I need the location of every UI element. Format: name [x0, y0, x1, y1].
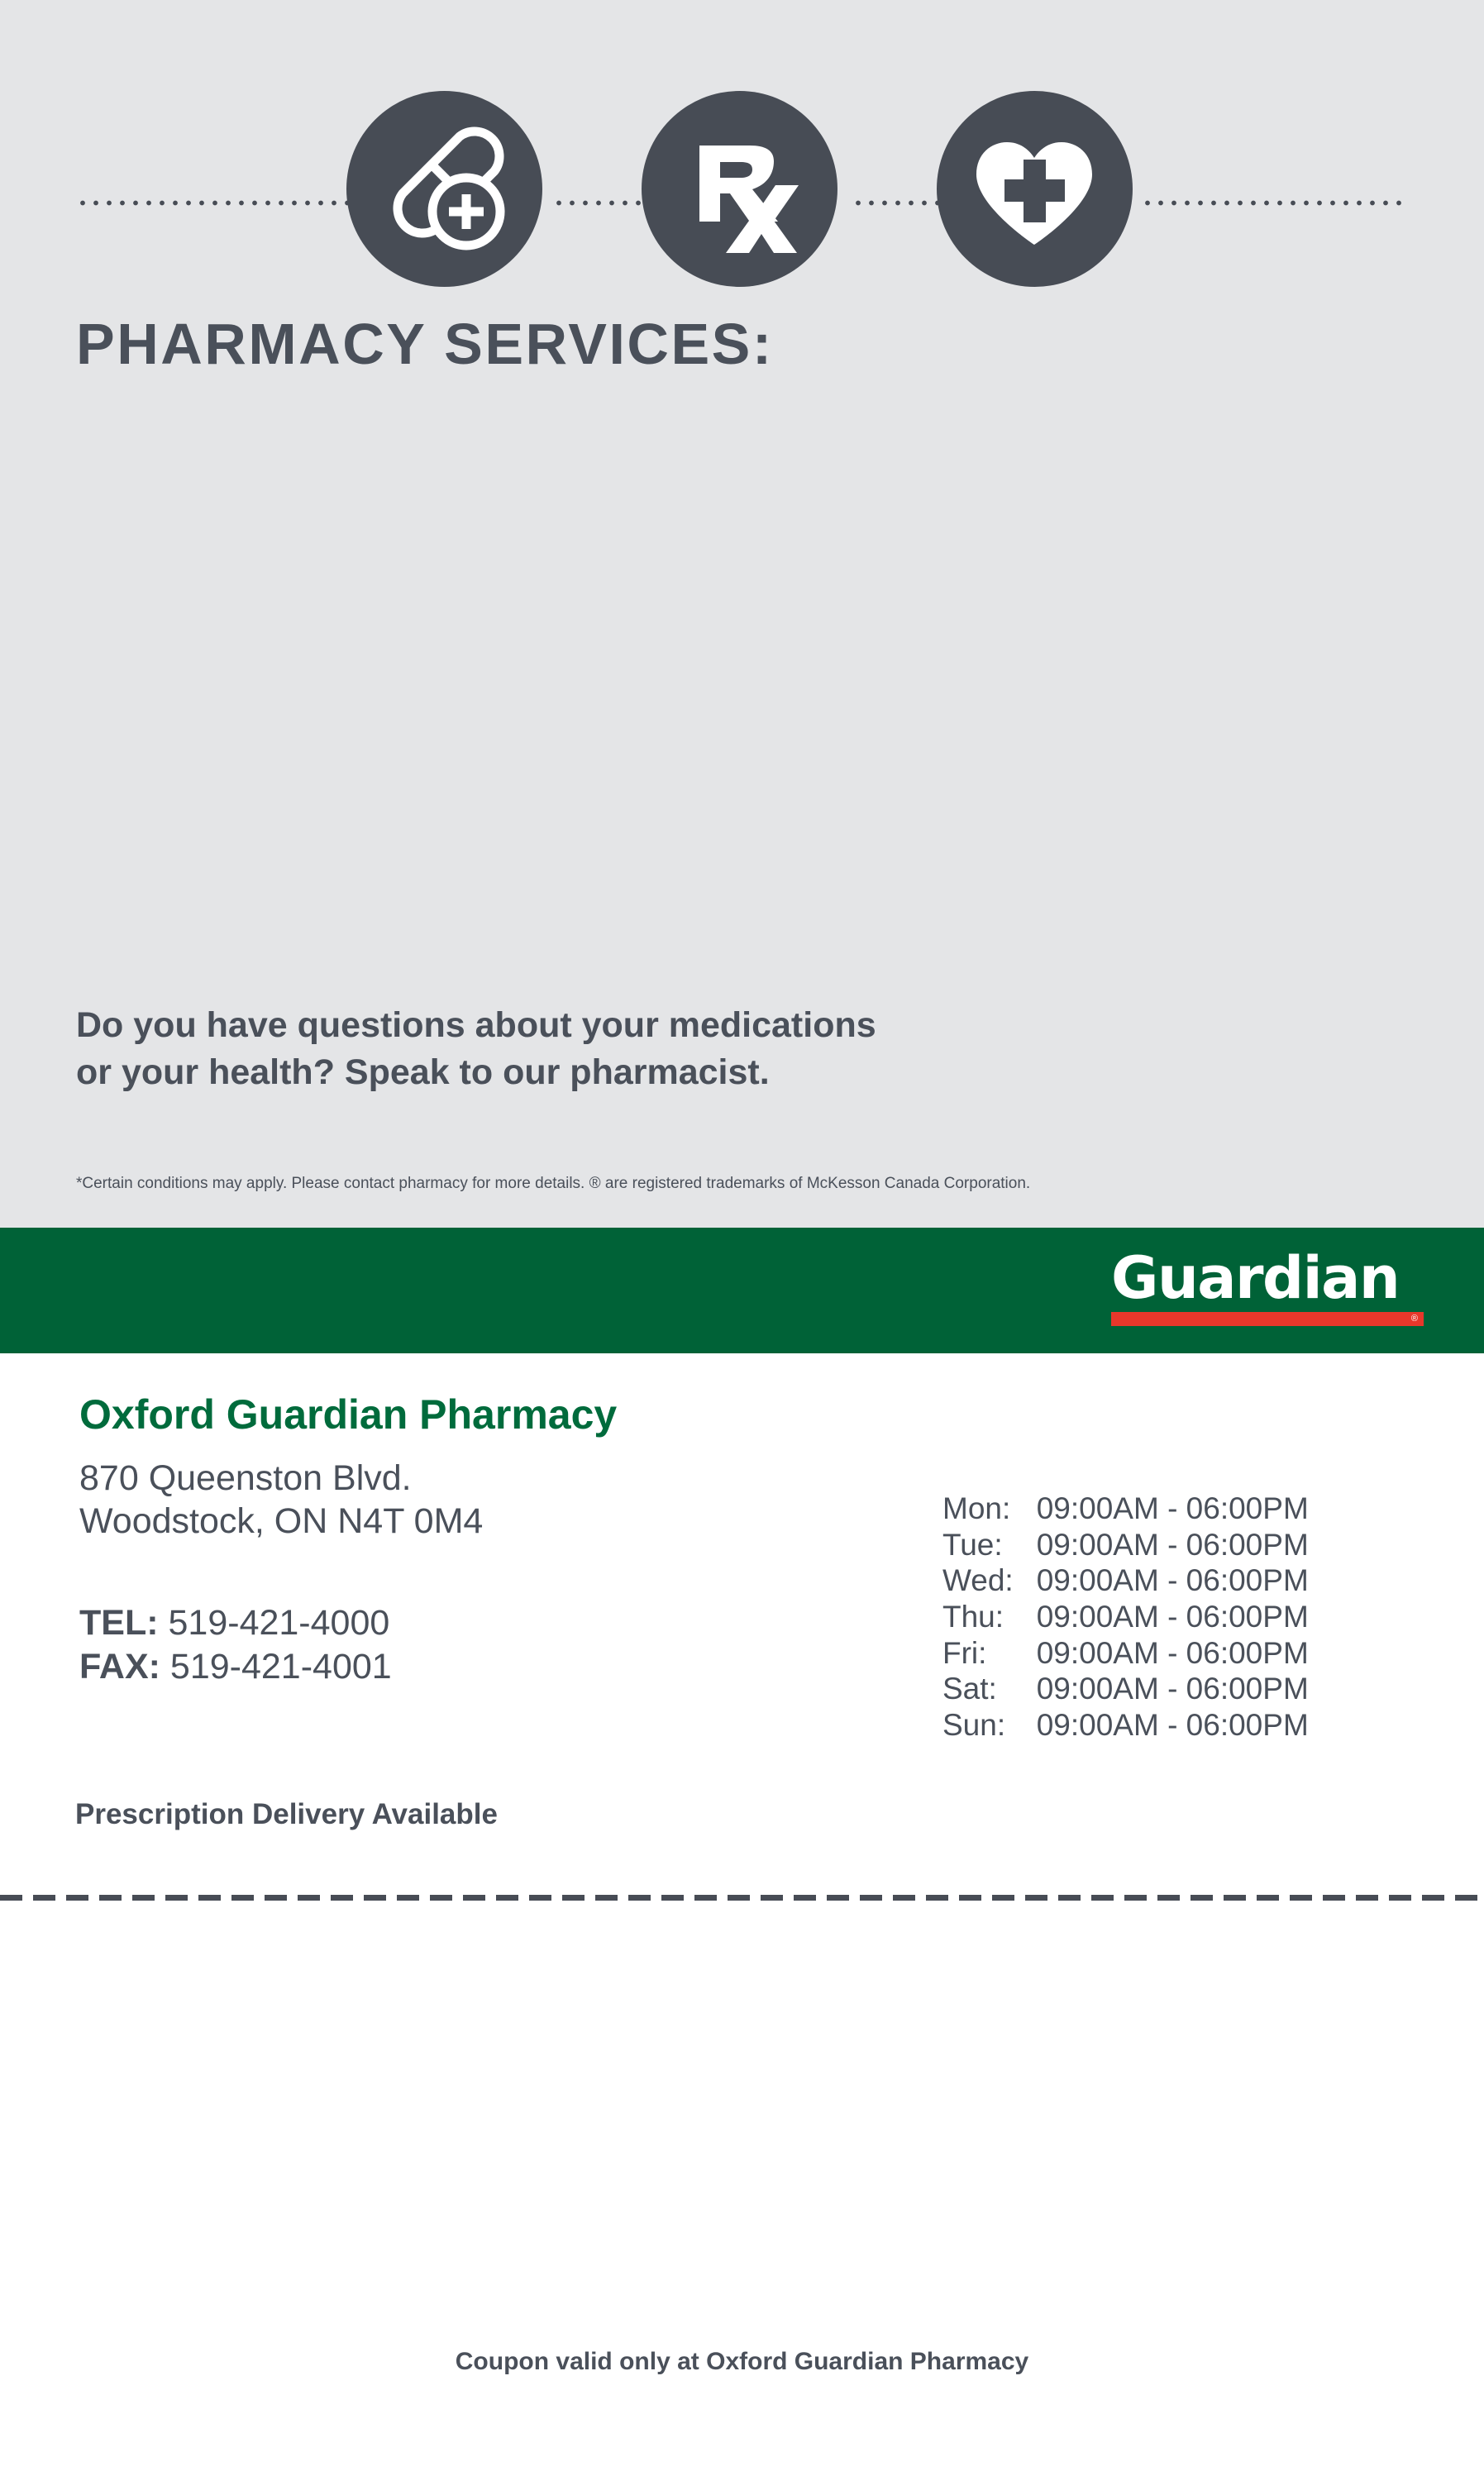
telephone-label: TEL: [79, 1603, 159, 1643]
dotted-rule-between-1-2 [552, 200, 643, 206]
coupon-footer-text: Coupon valid only at Oxford Guardian Pha… [0, 2348, 1484, 2376]
fax-value[interactable]: 519-421-4001 [170, 1647, 392, 1686]
fax-row: FAX: 519-421-4001 [79, 1645, 392, 1689]
store-contact: TEL: 519-421-4000 FAX: 519-421-4001 [79, 1601, 392, 1690]
store-hours-table: Mon: 09:00AM - 06:00PM Tue: 09:00AM - 06… [942, 1491, 1309, 1744]
hours-row: Tue: 09:00AM - 06:00PM [942, 1527, 1309, 1563]
store-hours-body: Mon: 09:00AM - 06:00PM Tue: 09:00AM - 06… [942, 1491, 1309, 1744]
rx-icon [642, 91, 837, 287]
question-line-2: or your health? Speak to our pharmacist. [76, 1049, 876, 1096]
hours-row: Sat: 09:00AM - 06:00PM [942, 1671, 1309, 1707]
address-line-1: 870 Queenston Blvd. [79, 1457, 483, 1500]
icon-strip [0, 45, 1484, 269]
hours-day: Wed: [942, 1562, 1037, 1599]
hours-day: Tue: [942, 1527, 1037, 1563]
pill-plus-icon [346, 91, 542, 287]
telephone-value[interactable]: 519-421-4000 [169, 1603, 390, 1643]
dotted-rule-between-2-3 [852, 200, 942, 206]
hours-time: 09:00AM - 06:00PM [1037, 1635, 1309, 1672]
question-block: Do you have questions about your medicat… [76, 1002, 876, 1096]
hours-row: Sun: 09:00AM - 06:00PM [942, 1707, 1309, 1744]
hours-row: Thu: 09:00AM - 06:00PM [942, 1599, 1309, 1635]
store-name: Oxford Guardian Pharmacy [79, 1391, 617, 1438]
heart-plus-icon [937, 91, 1133, 287]
hours-time: 09:00AM - 06:00PM [1037, 1707, 1309, 1744]
store-address: 870 Queenston Blvd. Woodstock, ON N4T 0M… [79, 1457, 483, 1543]
disclaimer-text: *Certain conditions may apply. Please co… [76, 1175, 1030, 1193]
fax-label: FAX: [79, 1647, 160, 1686]
guardian-logo: Guardian ® [1111, 1249, 1424, 1326]
dotted-rule-left [76, 200, 357, 206]
guardian-wordmark: Guardian [1111, 1249, 1424, 1307]
delivery-note: Prescription Delivery Available [75, 1798, 498, 1831]
hours-time: 09:00AM - 06:00PM [1037, 1491, 1309, 1527]
guardian-underline-bar: ® [1111, 1312, 1424, 1326]
question-line-1: Do you have questions about your medicat… [76, 1002, 876, 1049]
hours-time: 09:00AM - 06:00PM [1037, 1599, 1309, 1635]
hours-time: 09:00AM - 06:00PM [1037, 1562, 1309, 1599]
hours-day: Fri: [942, 1635, 1037, 1672]
dotted-rule-right [1141, 200, 1405, 206]
hours-day: Mon: [942, 1491, 1037, 1527]
hours-row: Mon: 09:00AM - 06:00PM [942, 1491, 1309, 1527]
page-title: PHARMACY SERVICES: [76, 311, 774, 377]
address-line-2: Woodstock, ON N4T 0M4 [79, 1500, 483, 1543]
hours-row: Fri: 09:00AM - 06:00PM [942, 1635, 1309, 1672]
hours-time: 09:00AM - 06:00PM [1037, 1527, 1309, 1563]
coupon-dashed-divider [0, 1895, 1484, 1901]
brand-band: Guardian ® [0, 1228, 1484, 1353]
hours-day: Sun: [942, 1707, 1037, 1744]
registered-trademark-icon: ® [1411, 1313, 1418, 1325]
hours-time: 09:00AM - 06:00PM [1037, 1671, 1309, 1707]
hours-day: Thu: [942, 1599, 1037, 1635]
hours-row: Wed: 09:00AM - 06:00PM [942, 1562, 1309, 1599]
header-section: PHARMACY SERVICES: Do you have questions… [0, 0, 1484, 1228]
coupon-area [0, 1901, 1484, 2476]
hours-day: Sat: [942, 1671, 1037, 1707]
telephone-row: TEL: 519-421-4000 [79, 1601, 392, 1645]
